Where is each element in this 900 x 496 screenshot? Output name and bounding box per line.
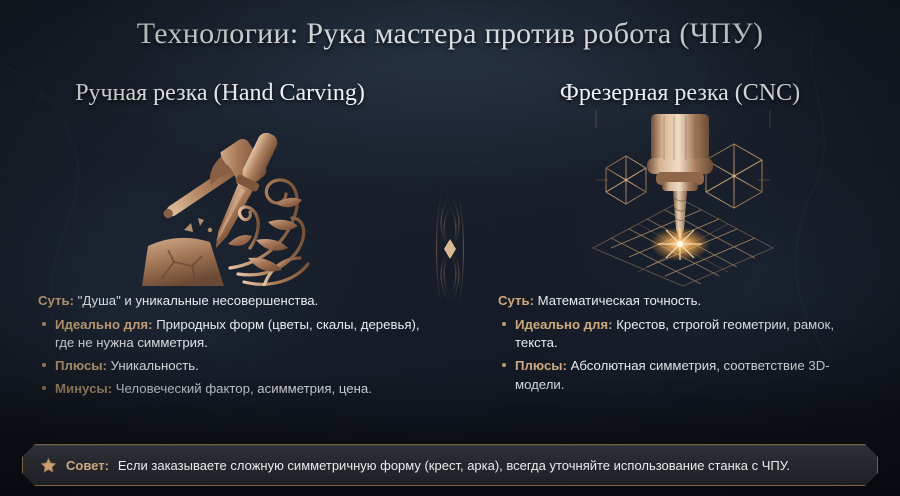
bullet-dot-icon [42, 363, 46, 367]
list-item: Идеально для: Крестов, строгой геометрии… [498, 316, 870, 353]
bullet-label: Плюсы: [55, 358, 107, 373]
star-icon [40, 457, 57, 474]
column-text-right: Суть: Математическая точность. Идеально … [498, 292, 870, 399]
hammer-chisel-stone-ornament-icon [118, 118, 358, 286]
bullet-dot-icon [42, 386, 46, 390]
bullet-dot-icon [502, 322, 506, 326]
lead-text: "Душа" и уникальные несовершенства. [78, 293, 319, 308]
bullet-text: Человеческий фактор, асимметрия, цена. [116, 381, 372, 396]
list-item: Плюсы: Уникальность. [38, 357, 428, 376]
bullet-list-left: Идеально для: Природных форм (цветы, ска… [38, 316, 428, 399]
cnc-spindle-drill-grid-icon [578, 108, 788, 290]
bullet-list-right: Идеально для: Крестов, строгой геометрии… [498, 316, 870, 395]
list-item: Идеально для: Природных форм (цветы, ска… [38, 316, 428, 353]
bullet-dot-icon [42, 322, 46, 326]
lead-line-right: Суть: Математическая точность. [498, 292, 870, 311]
tip-text: Если заказываете сложную симметричную фо… [118, 458, 790, 473]
bullet-label: Идеально для: [55, 317, 153, 332]
bullet-label: Плюсы: [515, 358, 567, 373]
ornamental-divider [432, 74, 468, 424]
lead-label: Суть: [38, 293, 74, 308]
bullet-dot-icon [502, 363, 506, 367]
lead-line-left: Суть: "Душа" и уникальные несовершенства… [38, 292, 428, 311]
bullet-label: Идеально для: [515, 317, 613, 332]
tip-banner: Совет: Если заказываете сложную симметри… [22, 444, 878, 486]
bullet-text: Уникальность. [111, 358, 199, 373]
lead-label: Суть: [498, 293, 534, 308]
column-heading-left: Ручная резка (Hand Carving) [10, 80, 430, 107]
polyhedron-wireframe-right [706, 144, 762, 208]
column-heading-right: Фрезерная резка (CNC) [470, 80, 890, 107]
infographic-canvas: Технологии: Рука мастера против робота (… [0, 0, 900, 496]
lead-text: Математическая точность. [538, 293, 702, 308]
tip-label: Совет: [66, 458, 109, 473]
page-title: Технологии: Рука мастера против робота (… [0, 17, 900, 51]
spindle-body [651, 114, 709, 162]
bullet-label: Минусы: [55, 381, 112, 396]
polyhedron-wireframe-left [606, 144, 646, 216]
list-item: Минусы: Человеческий фактор, асимметрия,… [38, 380, 428, 399]
column-text-left: Суть: "Душа" и уникальные несовершенства… [38, 292, 428, 403]
list-item: Плюсы: Абсолютная симметрия, соответстви… [498, 357, 870, 394]
